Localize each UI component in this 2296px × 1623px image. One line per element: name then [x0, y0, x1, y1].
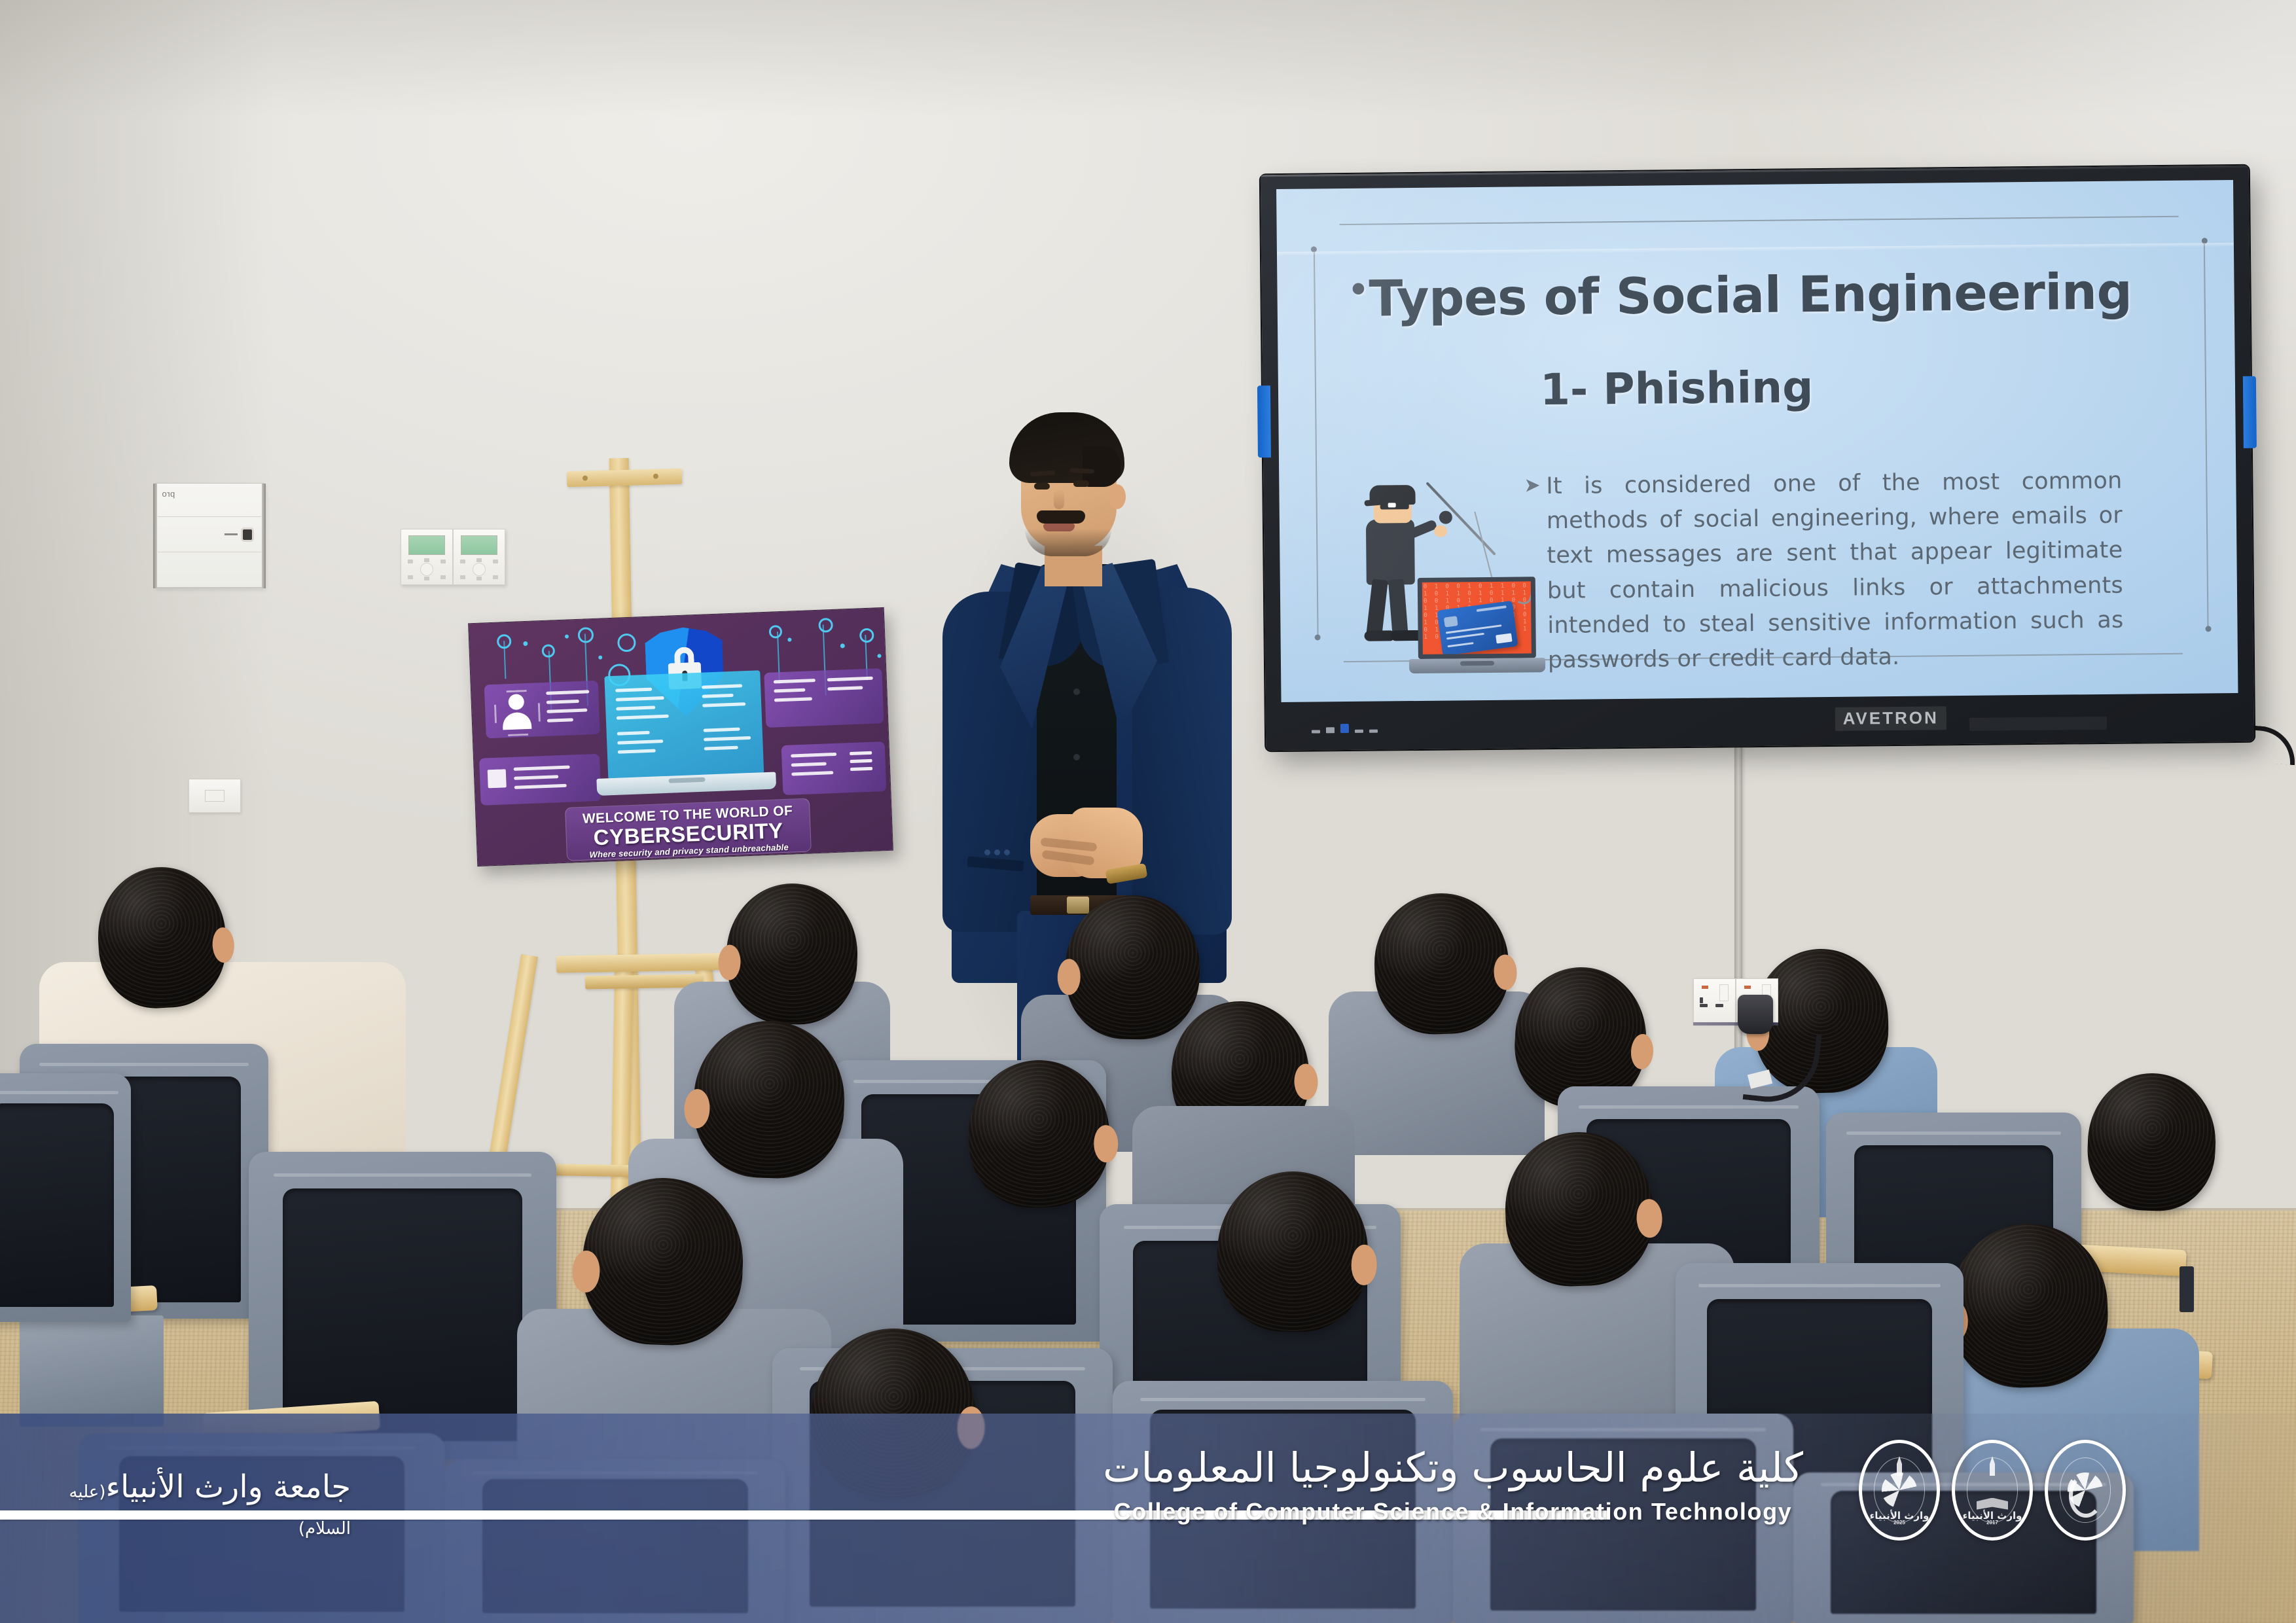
institution-logos: وارث الأنبياء 2025 وارث الأنبياء 2017	[1859, 1440, 2126, 1541]
menu-button-icon[interactable]	[1312, 730, 1320, 733]
circuit-dot	[598, 656, 602, 660]
thermostat-lcd-screen	[408, 535, 445, 555]
seal-crescent-icon	[2069, 1474, 2104, 1518]
frame-dot-top-right	[2202, 238, 2208, 243]
card-line	[850, 759, 872, 763]
thermostat-mode-button[interactable]	[408, 560, 413, 563]
fishing-reel-icon	[1439, 510, 1452, 524]
circuit-dot	[877, 654, 881, 658]
screen-line	[702, 702, 745, 707]
thief-hand	[1434, 526, 1447, 537]
screen-line	[702, 694, 734, 698]
display-ir-sensor-strip	[1969, 717, 2107, 731]
thief-body	[1366, 519, 1415, 585]
card-line	[774, 697, 812, 702]
poster-text-banner: WELCOME TO THE WORLD OF CYBERSECURITY Wh…	[565, 798, 812, 861]
socket-outlet-left[interactable]	[1693, 978, 1736, 1023]
thief-eye	[1388, 503, 1396, 507]
thermostat-left[interactable]	[401, 529, 453, 585]
presenter-cuff-buttons	[984, 849, 1010, 855]
poster-laptop-icon	[592, 670, 776, 802]
thermostat-fan-button[interactable]	[440, 560, 446, 563]
thermostat-timer-button[interactable]	[440, 575, 446, 579]
college-name-block: كلية علوم الحاسوب وتكنولوجيا المعلومات C…	[1086, 1444, 1820, 1525]
hair-texture	[1064, 894, 1201, 1041]
thief-shoe	[1365, 630, 1393, 641]
card-line	[546, 690, 589, 695]
card-name-line	[1448, 642, 1474, 647]
screen-line	[616, 696, 664, 702]
socket-indicator-light	[1702, 986, 1708, 989]
frame-dot-bottom-right	[2205, 626, 2211, 632]
frame-dot-bottom-left	[1315, 634, 1321, 640]
card-chip	[1444, 616, 1458, 627]
presenter-eye	[1034, 483, 1050, 490]
display-brand-label: AVETRON	[1835, 706, 1946, 731]
volume-up-button-icon[interactable]	[1369, 730, 1378, 733]
card-line	[774, 679, 816, 683]
screen-line	[616, 705, 655, 710]
wall-switch-plate[interactable]	[188, 779, 241, 813]
slide-body-text: It is considered one of the most common …	[1546, 468, 2123, 673]
circuit-node	[497, 634, 512, 649]
seal-emblem	[1882, 1472, 1917, 1508]
circuit-node	[617, 633, 636, 652]
card-line	[547, 718, 573, 722]
display-screen[interactable]: Types of Social Engineering 1- Phishing …	[1276, 180, 2238, 702]
card-line	[827, 686, 863, 690]
ear	[1057, 959, 1081, 995]
university-seal-college-icon: وارث الأنبياء 2025	[1859, 1440, 1940, 1541]
screen-line	[617, 740, 663, 745]
card-line	[514, 766, 570, 771]
circuit-node	[577, 627, 594, 643]
socket-indicator-light	[1744, 986, 1751, 989]
laptop-screen: 0 1 0 0 1 0 1 1 0 0 1 0 1 1 0 1 0 1 1 1 …	[1418, 577, 1536, 659]
presenter-belt-buckle	[1067, 897, 1089, 914]
card-number-line	[1446, 633, 1484, 640]
ear	[1351, 1245, 1377, 1285]
presentation-slide: Types of Social Engineering 1- Phishing …	[1276, 180, 2238, 702]
thief-leg	[1367, 579, 1388, 635]
panel-brand-label: pro	[162, 489, 175, 499]
thief-leg	[1388, 579, 1408, 635]
fishing-rod-icon	[1426, 482, 1496, 556]
cybersecurity-poster: WELCOME TO THE WORLD OF CYBERSECURITY Wh…	[468, 607, 893, 866]
circuit-node	[769, 625, 783, 639]
panel-handle	[224, 533, 238, 535]
circuit-node	[859, 628, 874, 643]
easel-screw	[653, 474, 658, 479]
frame-dot-top-left	[1311, 246, 1317, 252]
circuit-dot	[523, 641, 528, 646]
seal-year: 2025	[1893, 1520, 1905, 1526]
presenter-eye	[1073, 480, 1089, 487]
seat-highlight	[0, 1091, 118, 1094]
screen-line	[618, 749, 656, 753]
card-line	[547, 700, 579, 704]
data-card-lower-left	[479, 754, 601, 806]
seal-inner: وارث الأنبياء 2017	[1960, 1450, 2024, 1531]
thermostat-power-button[interactable]	[460, 575, 465, 579]
presenter-hair	[1009, 412, 1124, 483]
circuit-dot	[840, 643, 845, 648]
university-name-text: جامعة وارث الأنبياء	[105, 1469, 351, 1505]
panel-divider	[158, 552, 261, 552]
card-logo	[1496, 633, 1513, 643]
seat-highlight	[1140, 1398, 1426, 1401]
seat-side-panel	[20, 1315, 164, 1427]
thermostat-dial[interactable]	[420, 563, 433, 576]
university-name-arabic-left: جامعة وارث الأنبياء(عليه السلام)	[24, 1469, 351, 1542]
seat-cushion	[0, 1103, 114, 1308]
card-line	[791, 762, 827, 766]
presenter-nose	[1054, 490, 1064, 509]
frame-line-top	[1340, 216, 2179, 225]
card-line	[791, 771, 833, 776]
college-name-english: College of Computer Science & Informatio…	[1086, 1498, 1820, 1525]
thermostat-dial[interactable]	[473, 563, 486, 576]
poster-laptop-screen	[604, 670, 764, 779]
volume-down-button-icon[interactable]	[1355, 730, 1363, 733]
screen-line	[704, 736, 751, 741]
circuit-node	[818, 618, 833, 633]
electrical-distribution-panel[interactable]: pro	[154, 483, 264, 588]
display-side-accent-right	[2243, 376, 2257, 448]
display-control-buttons[interactable]	[1312, 724, 1378, 734]
thermostat-power-button[interactable]	[408, 575, 413, 579]
circuit-dot	[787, 637, 791, 641]
card-line	[514, 775, 558, 780]
phishing-illustration: 0 1 0 0 1 0 1 1 0 0 1 0 1 1 0 1 0 1 1 1 …	[1350, 476, 1548, 694]
lecture-hall-photo: pro	[0, 0, 2296, 1623]
seal-inner: وارث الأنبياء 2025	[1867, 1450, 1931, 1531]
attendee-head	[1064, 894, 1201, 1041]
user-profile-icon	[493, 689, 541, 737]
armrest-bracket	[2179, 1266, 2194, 1312]
card-line	[850, 751, 872, 755]
card-line	[827, 677, 873, 682]
card-line	[514, 784, 567, 789]
circuit-node	[541, 644, 555, 658]
thermostat-button-group[interactable]	[457, 558, 501, 580]
smart-display[interactable]: Types of Social Engineering 1- Phishing …	[1261, 166, 2254, 751]
seal-year: 2017	[1986, 1520, 1998, 1526]
ear	[1094, 1125, 1119, 1162]
seal-inner	[2053, 1450, 2117, 1531]
slide-title: Types of Social Engineering	[1369, 262, 2132, 327]
seat-highlight	[1698, 1284, 1941, 1287]
source-button-icon[interactable]	[1326, 727, 1335, 733]
screen-line	[704, 728, 740, 732]
screen-line	[704, 746, 738, 751]
seat-highlight	[274, 1173, 532, 1177]
auditorium-seat[interactable]	[0, 1073, 131, 1322]
frame-line-right	[2204, 241, 2209, 628]
thermostat-button-group[interactable]	[405, 558, 448, 580]
seat-highlight	[1579, 1105, 1799, 1109]
seat-highlight	[1846, 1132, 2061, 1135]
card-block	[488, 769, 507, 788]
college-name-arabic: كلية علوم الحاسوب وتكنولوجيا المعلومات	[1086, 1444, 1820, 1491]
laptop-icon: 0 1 0 0 1 0 1 1 0 0 1 0 1 1 0 1 0 1 1 1 …	[1408, 577, 1546, 687]
thermostat-up-button[interactable]	[424, 558, 429, 562]
thermostat-down-button[interactable]	[424, 577, 429, 580]
ministry-seal-icon	[2045, 1440, 2126, 1541]
panel-divider	[158, 516, 261, 517]
easel-top-clamp	[567, 469, 683, 488]
panel-lock-icon[interactable]	[243, 529, 252, 540]
seat-highlight	[39, 1063, 248, 1066]
frame-line-left	[1314, 250, 1319, 636]
card-line	[547, 708, 587, 713]
university-seal-main-icon: وارث الأنبياء 2017	[1952, 1440, 2033, 1541]
card-line	[774, 688, 805, 693]
easel-screw	[583, 475, 588, 480]
presenter-moustache	[1037, 510, 1085, 524]
data-card-right	[764, 668, 884, 728]
thermostat-up-button[interactable]	[476, 558, 482, 562]
laptop-trackpad	[1460, 661, 1494, 666]
thermostat-mode-button[interactable]	[460, 560, 465, 563]
card-line	[791, 753, 836, 758]
card-top-line	[1477, 605, 1507, 612]
light-switch[interactable]	[205, 790, 224, 802]
panel-edge-left	[153, 484, 157, 588]
thermostat-pair[interactable]	[401, 529, 505, 585]
screen-line	[702, 684, 742, 688]
card-line	[850, 767, 872, 771]
data-card-lower-right	[781, 741, 887, 795]
socket-pin-holes	[1700, 997, 1723, 1008]
screen-line	[617, 715, 669, 720]
thermostat-down-button[interactable]	[476, 577, 482, 580]
screen-line	[615, 688, 652, 692]
panel-edge-right	[262, 484, 266, 588]
screen-line	[617, 731, 650, 736]
power-button-icon[interactable]	[1340, 724, 1349, 733]
seat-cushion	[283, 1188, 523, 1440]
presenter-ear	[1109, 484, 1126, 509]
slide-subtitle: 1- Phishing	[1540, 362, 1814, 415]
circuit-dot	[565, 634, 569, 638]
thermostat-lcd-screen	[461, 535, 497, 555]
slide-body-text-block: ➤ It is considered one of the most commo…	[1546, 464, 2124, 679]
